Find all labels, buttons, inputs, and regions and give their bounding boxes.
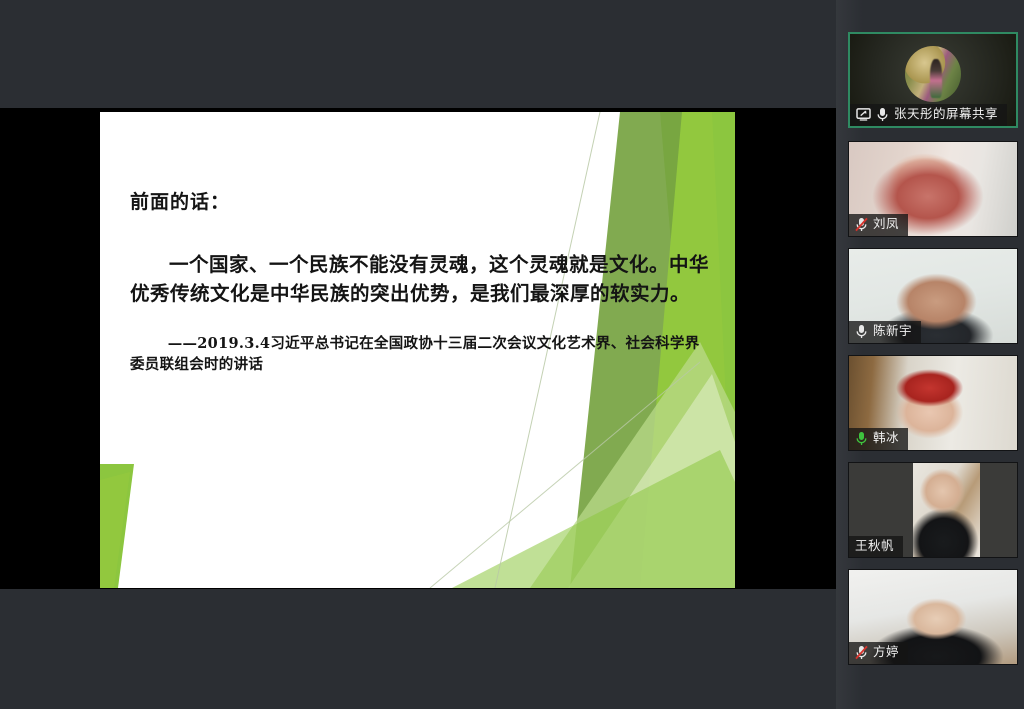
microphone-icon xyxy=(876,107,889,122)
participant-sidebar[interactable]: 张天彤的屏幕共享 刘凤 xyxy=(836,0,1024,709)
participant-name: 王秋帆 xyxy=(855,539,894,553)
nameplate: 刘凤 xyxy=(849,214,908,236)
conference-window: 前面的话： 一个国家、一个民族不能没有灵魂，这个灵魂就是文化。中华优秀传统文化是… xyxy=(0,0,1024,709)
avatar xyxy=(905,46,961,102)
screen-share-icon xyxy=(856,108,871,121)
participant-tile-wangqiufan[interactable]: 王秋帆 xyxy=(848,462,1018,558)
nameplate: 陈新宇 xyxy=(849,321,921,343)
participant-name: 韩冰 xyxy=(873,431,899,445)
nameplate: 王秋帆 xyxy=(849,536,903,557)
slide-text-block: 前面的话： 一个国家、一个民族不能没有灵魂，这个灵魂就是文化。中华优秀传统文化是… xyxy=(130,190,710,376)
microphone-muted-icon xyxy=(855,645,868,660)
slide-citation: ——2019.3.4习近平总书记在全国政协十三届二次会议文化艺术界、社会科学界委… xyxy=(130,334,710,375)
nameplate: 方婷 xyxy=(849,642,908,664)
participant-tile-chenxinyu[interactable]: 陈新宇 xyxy=(848,248,1018,344)
participant-name: 刘凤 xyxy=(873,217,899,231)
participant-name: 陈新宇 xyxy=(873,324,912,338)
participant-tile-zhangtiantong[interactable]: 张天彤的屏幕共享 xyxy=(848,32,1018,128)
nameplate: 韩冰 xyxy=(849,428,908,450)
slide-lead-line: 前面的话： xyxy=(130,190,710,215)
shared-screen-stage[interactable]: 前面的话： 一个国家、一个民族不能没有灵魂，这个灵魂就是文化。中华优秀传统文化是… xyxy=(0,108,843,589)
microphone-active-icon xyxy=(855,431,868,446)
slide-body-paragraph: 一个国家、一个民族不能没有灵魂，这个灵魂就是文化。中华优秀传统文化是中华民族的突… xyxy=(130,251,710,309)
participant-tile-hanbing[interactable]: 韩冰 xyxy=(848,355,1018,451)
nameplate: 张天彤的屏幕共享 xyxy=(850,104,1007,126)
participant-name: 方婷 xyxy=(873,645,899,659)
participant-tile-liufeng[interactable]: 刘凤 xyxy=(848,141,1018,237)
microphone-muted-icon xyxy=(855,217,868,232)
video-inner-frame xyxy=(913,463,980,557)
participant-tile-fangting[interactable]: 方婷 xyxy=(848,569,1018,665)
presentation-slide[interactable]: 前面的话： 一个国家、一个民族不能没有灵魂，这个灵魂就是文化。中华优秀传统文化是… xyxy=(100,112,735,588)
microphone-icon xyxy=(855,324,868,339)
participant-name: 张天彤的屏幕共享 xyxy=(894,107,998,121)
